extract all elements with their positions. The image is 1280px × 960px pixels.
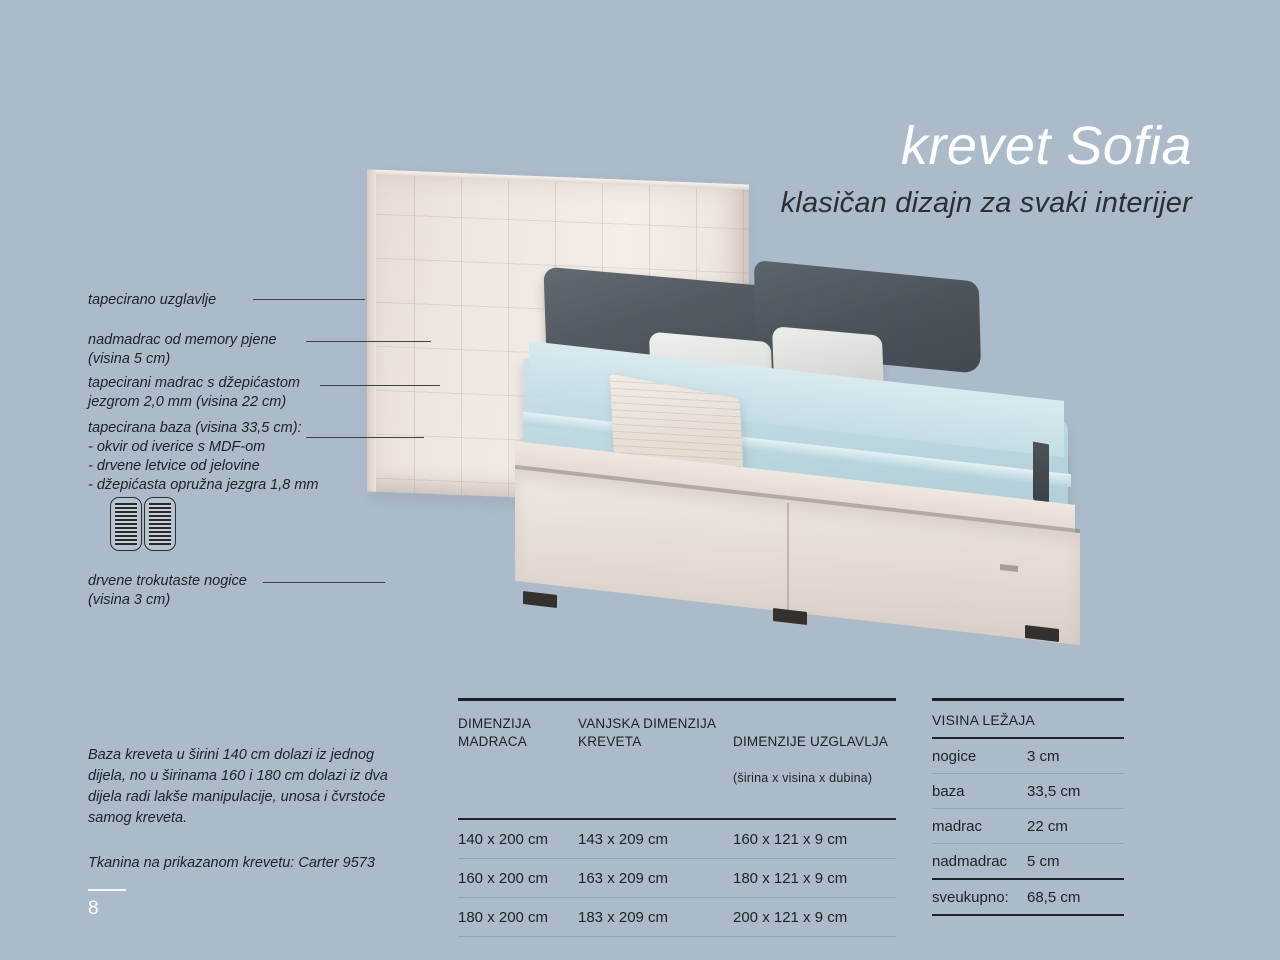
- height-row: nogice 3 cm: [932, 739, 1124, 773]
- table-header-outer-dimension: VANJSKA DIMENZIJA KREVETA: [578, 715, 733, 807]
- table-row: 160 x 200 cm 163 x 209 cm 180 x 121 x 9 …: [458, 859, 896, 897]
- table-header-mattress-dimension: DIMENZIJA MADRACA: [458, 715, 578, 807]
- table-row: 180 x 200 cm 183 x 209 cm 200 x 121 x 9 …: [458, 898, 896, 936]
- bed-leg-middle: [773, 608, 807, 625]
- cell-outer-dimension: 143 x 209 cm: [578, 831, 733, 848]
- height-label: nogice: [932, 748, 1027, 765]
- height-row: nadmadrac 5 cm: [932, 844, 1124, 878]
- leader-line-topper: [306, 341, 431, 342]
- cell-headboard-dimension: 160 x 121 x 9 cm: [733, 831, 896, 848]
- height-table-title: VISINA LEŽAJA: [932, 701, 1124, 737]
- cell-outer-dimension: 163 x 209 cm: [578, 870, 733, 887]
- height-value: 33,5 cm: [1027, 783, 1080, 800]
- bed-body: [505, 315, 1065, 605]
- height-table-bottom-rule: [932, 914, 1124, 916]
- title-block: krevet Sofia klasičan dizajn za svaki in…: [781, 118, 1192, 220]
- page-title: krevet Sofia: [781, 118, 1192, 175]
- fabric-note: Tkanina na prikazanom krevetu: Carter 95…: [88, 853, 418, 874]
- headboard-side-edge: [367, 169, 376, 491]
- callout-legs: drvene trokutaste nogice (visina 3 cm): [88, 572, 247, 610]
- height-total-value: 68,5 cm: [1027, 889, 1080, 906]
- callout-base: tapecirana baza (visina 33,5 cm): - okvi…: [88, 419, 319, 496]
- cell-mattress-dimension: 140 x 200 cm: [458, 831, 578, 848]
- cell-mattress-dimension: 160 x 200 cm: [458, 870, 578, 887]
- cell-headboard-dimension: 180 x 121 x 9 cm: [733, 870, 896, 887]
- page-number-rule: [88, 889, 126, 891]
- table-header-row: DIMENZIJA MADRACA VANJSKA DIMENZIJA KREV…: [458, 701, 896, 819]
- base-split-seam: [787, 503, 789, 611]
- leader-line-legs: [263, 582, 385, 583]
- height-total-label: sveukupno:: [932, 889, 1027, 906]
- page-number: 8: [88, 898, 99, 920]
- cell-mattress-dimension: 180 x 200 cm: [458, 909, 578, 926]
- height-label: madrac: [932, 818, 1027, 835]
- spring-coil-left: [115, 503, 137, 545]
- base-note: Baza kreveta u širini 140 cm dolazi iz j…: [88, 745, 418, 829]
- callout-topper: nadmadrac od memory pjene (visina 5 cm): [88, 331, 277, 369]
- spring-coil-right: [149, 503, 171, 545]
- bed-leg-front: [523, 591, 557, 608]
- height-row: baza 33,5 cm: [932, 774, 1124, 808]
- leader-line-mattress: [320, 385, 440, 386]
- leader-line-headboard: [253, 299, 365, 300]
- catalog-page: krevet Sofia klasičan dizajn za svaki in…: [0, 0, 1280, 960]
- height-label: baza: [932, 783, 1027, 800]
- table-header-headboard-main: DIMENZIJE UZGLAVLJA: [733, 733, 896, 752]
- callout-mattress: tapecirani madrac s džepićastom jezgrom …: [88, 374, 300, 412]
- height-label: nadmadrac: [932, 853, 1027, 870]
- page-subtitle: klasičan dizajn za svaki interijer: [781, 187, 1192, 220]
- table-bottom-rule: [458, 936, 896, 937]
- height-value: 3 cm: [1027, 748, 1060, 765]
- height-value: 5 cm: [1027, 853, 1060, 870]
- bed-product-photo: [345, 165, 1065, 605]
- table-header-headboard-dimension: DIMENZIJE UZGLAVLJA (širina x visina x d…: [733, 715, 896, 807]
- cell-headboard-dimension: 200 x 121 x 9 cm: [733, 909, 896, 926]
- callout-headboard: tapecirano uzglavlje: [88, 291, 216, 310]
- table-header-headboard-sub: (širina x visina x dubina): [733, 770, 896, 787]
- pocket-spring-right: [144, 497, 176, 551]
- pocket-spring-icon: [110, 497, 176, 549]
- height-table: VISINA LEŽAJA nogice 3 cm baza 33,5 cm m…: [932, 698, 1124, 916]
- height-total-row: sveukupno: 68,5 cm: [932, 880, 1124, 914]
- height-value: 22 cm: [1027, 818, 1068, 835]
- height-row: madrac 22 cm: [932, 809, 1124, 843]
- corner-drape: [1033, 442, 1049, 505]
- pocket-spring-left: [110, 497, 142, 551]
- leader-line-base: [306, 437, 424, 438]
- table-row: 140 x 200 cm 143 x 209 cm 160 x 121 x 9 …: [458, 820, 896, 858]
- dimensions-table: DIMENZIJA MADRACA VANJSKA DIMENZIJA KREV…: [458, 698, 896, 937]
- cell-outer-dimension: 183 x 209 cm: [578, 909, 733, 926]
